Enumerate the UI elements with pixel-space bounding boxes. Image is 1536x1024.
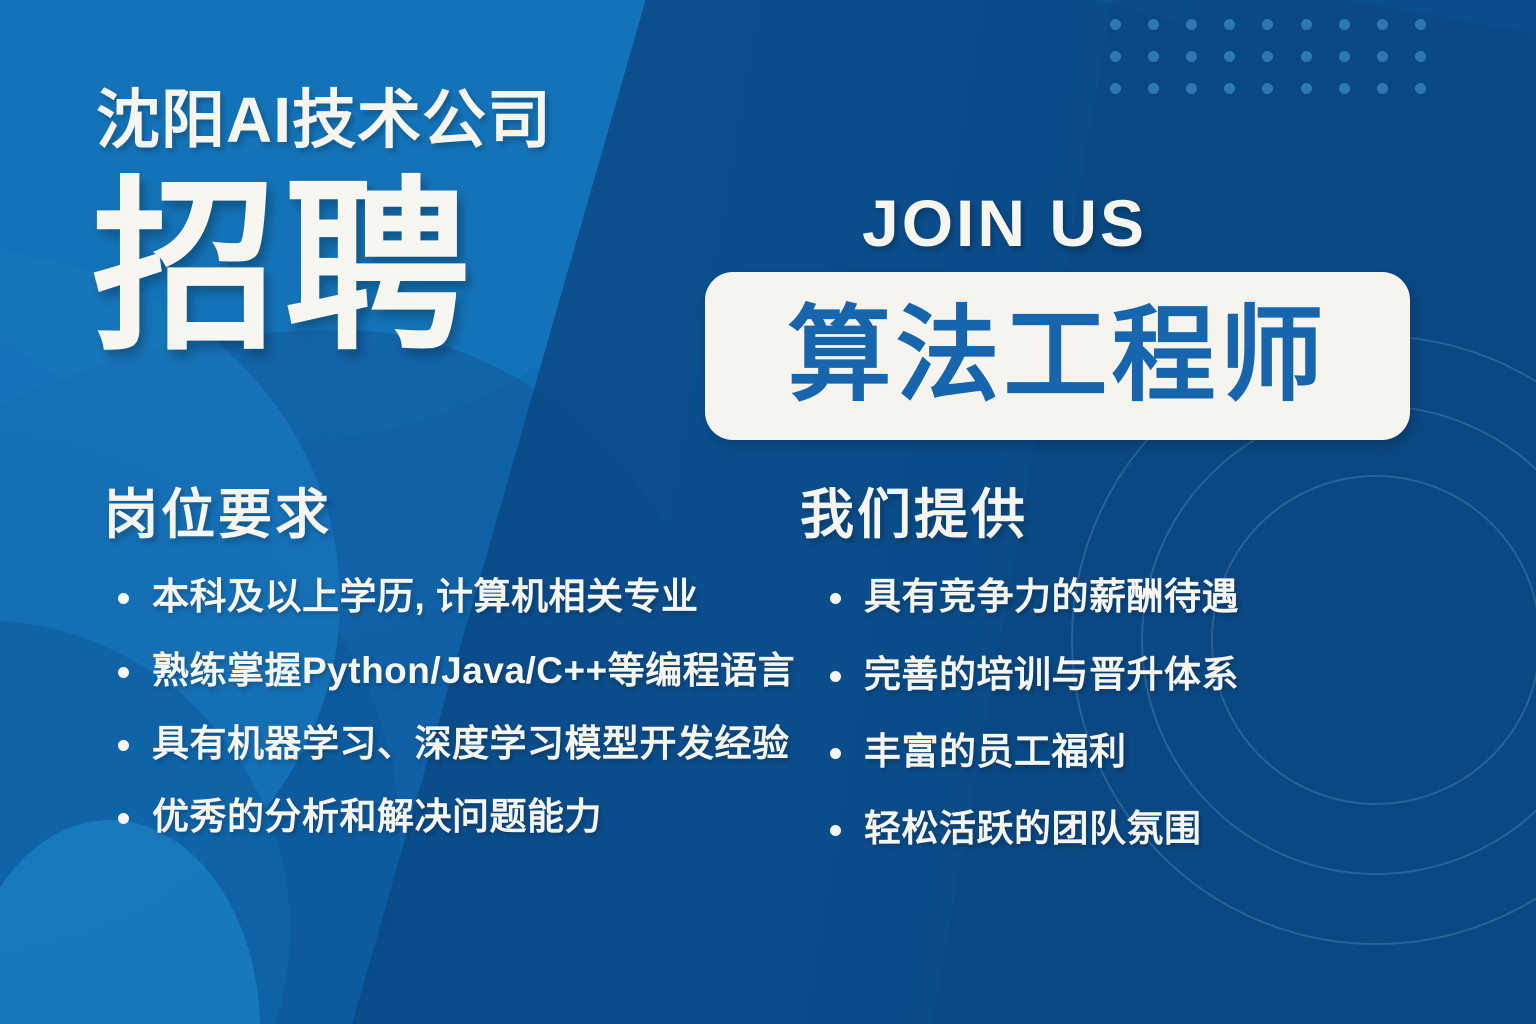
offers-section: 我们提供 具有竞争力的薪酬待遇完善的培训与晋升体系丰富的员工福利轻松活跃的团队氛…	[800, 486, 1460, 883]
join-us-label: JOIN US	[862, 190, 1147, 256]
offers-heading: 我们提供	[800, 486, 1460, 545]
requirements-list: 本科及以上学历, 计算机相关专业熟练掌握Python/Java/C++等编程语言…	[104, 573, 804, 840]
list-item: 熟练掌握Python/Java/C++等编程语言	[104, 647, 804, 694]
list-item: 本科及以上学历, 计算机相关专业	[104, 573, 804, 620]
requirements-section: 岗位要求 本科及以上学历, 计算机相关专业熟练掌握Python/Java/C++…	[104, 486, 804, 867]
company-name: 沈阳AI技术公司	[96, 88, 552, 152]
poster-content: 沈阳AI技术公司 招聘 JOIN US 算法工程师 岗位要求 本科及以上学历, …	[0, 0, 1536, 1024]
list-item: 具有机器学习、深度学习模型开发经验	[104, 720, 804, 767]
offers-list: 具有竞争力的薪酬待遇完善的培训与晋升体系丰富的员工福利轻松活跃的团队氛围	[816, 573, 1460, 852]
list-item: 具有竞争力的薪酬待遇	[816, 573, 1460, 620]
recruitment-poster: 沈阳AI技术公司 招聘 JOIN US 算法工程师 岗位要求 本科及以上学历, …	[0, 0, 1536, 1024]
list-item: 丰富的员工福利	[816, 728, 1460, 775]
position-title-box: 算法工程师	[705, 272, 1410, 440]
position-title: 算法工程师	[787, 304, 1327, 408]
requirements-heading: 岗位要求	[104, 486, 804, 545]
list-item: 完善的培训与晋升体系	[816, 651, 1460, 698]
list-item: 轻松活跃的团队氛围	[816, 805, 1460, 852]
page-title: 招聘	[92, 176, 476, 362]
list-item: 优秀的分析和解决问题能力	[104, 793, 804, 840]
